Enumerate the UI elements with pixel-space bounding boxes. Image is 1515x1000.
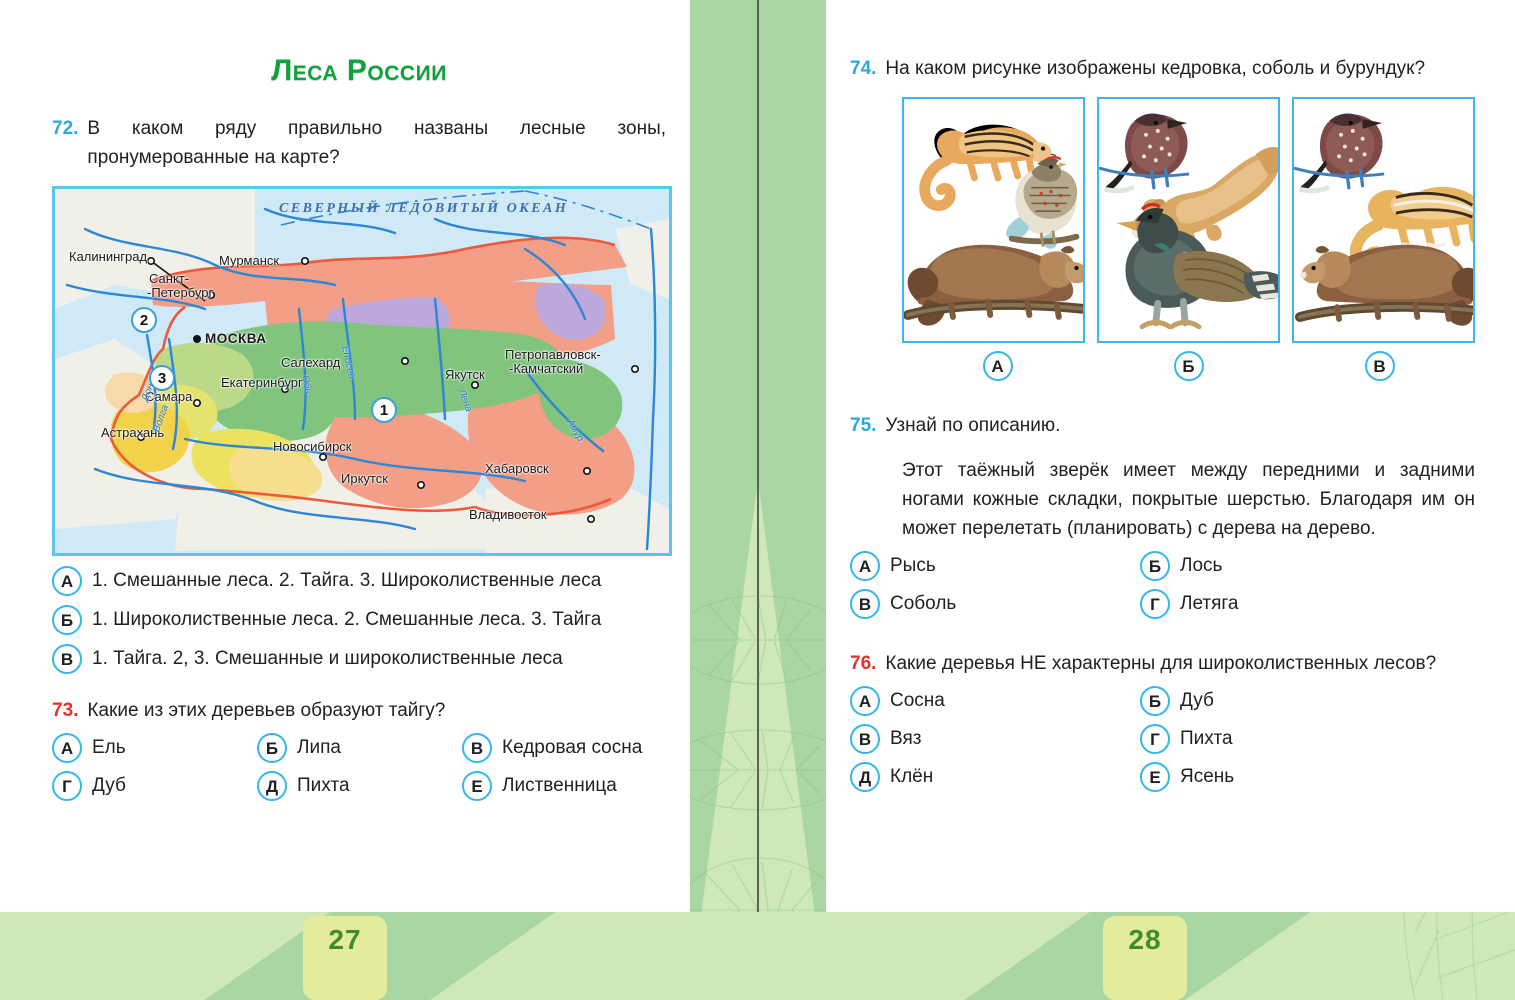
question-76-options: А Сосна Б Дуб В Вяз Г Пихта Д Клён <box>850 686 1475 800</box>
option-bullet-b[interactable]: Б <box>52 605 82 635</box>
option-row[interactable]: Г Пихта <box>1140 724 1233 754</box>
option-bullet-b[interactable]: Б <box>257 733 287 763</box>
option-bullet-a[interactable]: А <box>850 686 880 716</box>
map-city-moscow: МОСКВА <box>205 331 267 346</box>
option-bullet-g[interactable]: Г <box>1140 724 1170 754</box>
panel-a-illustration <box>904 99 1085 341</box>
option-label: Летяга <box>1180 589 1238 619</box>
map-city-khabarovsk: Хабаровск <box>485 461 549 476</box>
option-label: Ясень <box>1180 762 1234 792</box>
page-number-right: 28 <box>1103 916 1187 1000</box>
option-bullet-d[interactable]: Д <box>850 762 880 792</box>
question-74: 74. На каком рисунке изображены кедровка… <box>850 54 1475 83</box>
question-number: 76. <box>850 649 876 678</box>
option-bullet-v[interactable]: В <box>1365 351 1395 381</box>
option-row[interactable]: А Рысь <box>850 551 1140 581</box>
book-spread: Леса России 72. В каком ряду правильно н… <box>0 0 1515 1000</box>
option-bullet-a[interactable]: А <box>850 551 880 581</box>
option-label: Вяз <box>890 724 1140 754</box>
option-row[interactable]: Б 1. Широколиственные леса. 2. Смешанные… <box>52 605 666 635</box>
option-bullet-d[interactable]: Д <box>257 771 287 801</box>
option-bullet-v[interactable]: В <box>52 644 82 674</box>
option-label: Дуб <box>92 771 257 801</box>
option-bullet-v[interactable]: В <box>462 733 492 763</box>
option-bullet-b[interactable]: Б <box>1140 551 1170 581</box>
map-city-ekaterinburg: Екатеринбург <box>221 375 303 390</box>
question-75-options: А Рысь Б Лось В Соболь Г Летяга <box>850 551 1475 627</box>
question-text: Какие деревья НЕ характерны для широколи… <box>885 649 1436 678</box>
question-75-description: Этот таёжный зверёк имеет между передним… <box>902 456 1475 543</box>
footer-wedge <box>430 912 760 1000</box>
option-row[interactable]: Г Летяга <box>1140 589 1238 619</box>
map-city-salekhard: Салехард <box>281 355 340 370</box>
book-spine <box>757 0 759 1000</box>
footer-band <box>0 912 1515 1000</box>
footer-wedge <box>0 912 330 1000</box>
map-city-vladivostok: Владивосток <box>469 507 547 522</box>
answer-panel-v[interactable] <box>1292 97 1475 343</box>
question-text: Какие из этих деревьев образуют тайгу? <box>87 696 445 725</box>
option-row[interactable]: Б Дуб <box>1140 686 1214 716</box>
question-76: 76. Какие деревья НЕ характерны для широ… <box>850 649 1475 678</box>
option-row[interactable]: Д Пихта <box>257 771 462 801</box>
map-zone-number-3: 3 <box>149 365 175 391</box>
option-bullet-b[interactable]: Б <box>1140 686 1170 716</box>
russia-forest-zones-map: СЕВЕРНЫЙ ЛЕДОВИТЫЙ ОКЕАН Калининград Мур… <box>52 186 672 556</box>
option-label: Липа <box>297 733 462 763</box>
question-number: 73. <box>52 696 78 725</box>
map-city-murmansk: Мурманск <box>219 253 279 268</box>
question-text: На каком рисунке изображены кедровка, со… <box>885 54 1425 83</box>
question-number: 75. <box>850 411 876 440</box>
answer-panel-a[interactable] <box>902 97 1085 343</box>
option-label: 1. Тайга. 2, 3. Смешанные и широколистве… <box>92 644 666 674</box>
option-row[interactable]: Б Липа <box>257 733 462 763</box>
option-label: 1. Смешанные леса. 2. Тайга. 3. Широколи… <box>92 566 666 596</box>
question-72-options: А 1. Смешанные леса. 2. Тайга. 3. Широко… <box>52 566 666 674</box>
question-number: 74. <box>850 54 876 83</box>
question-75: 75. Узнай по описанию. <box>850 411 1475 440</box>
option-bullet-g[interactable]: Г <box>52 771 82 801</box>
question-74-panels <box>902 97 1475 343</box>
page-title: Леса России <box>52 54 666 88</box>
answer-panel-b[interactable] <box>1097 97 1280 343</box>
option-label: Ель <box>92 733 257 763</box>
footer-wedge <box>760 912 1090 1000</box>
footer-wedge <box>1185 912 1515 1000</box>
option-label: Кедровая сосна <box>502 733 642 763</box>
option-label: 1. Широколиственные леса. 2. Смешанные л… <box>92 605 666 635</box>
option-label: Пихта <box>1180 724 1233 754</box>
option-bullet-e[interactable]: Е <box>462 771 492 801</box>
option-row[interactable]: Д Клён <box>850 762 1140 792</box>
question-72: 72. В каком ряду правильно названы лесны… <box>52 114 666 172</box>
option-row[interactable]: В Вяз <box>850 724 1140 754</box>
option-bullet-a[interactable]: А <box>983 351 1013 381</box>
map-city-saintpetersburg-l1: Санкт- <box>149 271 189 286</box>
map-city-petropavlovsk-l2: -Камчатский <box>509 361 583 376</box>
option-row[interactable]: Е Лиственница <box>462 771 617 801</box>
option-row[interactable]: В Кедровая сосна <box>462 733 642 763</box>
option-bullet-v[interactable]: В <box>850 724 880 754</box>
option-label: Сосна <box>890 686 1140 716</box>
map-city-novosibirsk: Новосибирск <box>273 439 352 454</box>
option-label: Дуб <box>1180 686 1214 716</box>
panel-label-b[interactable]: Б <box>1093 351 1284 381</box>
ocean-label: СЕВЕРНЫЙ ЛЕДОВИТЫЙ ОКЕАН <box>279 201 568 217</box>
question-number: 72. <box>52 114 78 172</box>
option-row[interactable]: В Соболь <box>850 589 1140 619</box>
option-row[interactable]: Б Лось <box>1140 551 1222 581</box>
panel-label-v[interactable]: В <box>1284 351 1475 381</box>
option-row[interactable]: Е Ясень <box>1140 762 1234 792</box>
option-label: Соболь <box>890 589 1140 619</box>
question-74-panel-labels: А Б В <box>902 351 1475 381</box>
map-city-yakutsk: Якутск <box>445 367 485 382</box>
option-label: Пихта <box>297 771 462 801</box>
map-city-petropavlovsk-l1: Петропавловск- <box>505 347 601 362</box>
option-label: Клён <box>890 762 1140 792</box>
question-text: Узнай по описанию. <box>885 411 1060 440</box>
option-row[interactable]: А Ель <box>52 733 257 763</box>
option-bullet-g[interactable]: Г <box>1140 589 1170 619</box>
right-page: 74. На каком рисунке изображены кедровка… <box>826 0 1515 912</box>
page-number-left: 27 <box>303 916 387 1000</box>
question-73: 73. Какие из этих деревьев образуют тайг… <box>52 696 666 725</box>
option-bullet-b[interactable]: Б <box>1174 351 1204 381</box>
question-73-options: А Ель Б Липа В Кедровая сосна Г Дуб Д <box>52 733 666 809</box>
map-city-saintpetersburg-l2: -Петербург <box>147 285 213 300</box>
option-bullet-v[interactable]: В <box>850 589 880 619</box>
option-label: Рысь <box>890 551 1140 581</box>
option-bullet-a[interactable]: А <box>52 733 82 763</box>
map-zone-number-1: 1 <box>371 397 397 423</box>
question-text: В каком ряду правильно названы лесные зо… <box>87 114 666 172</box>
option-label: Лиственница <box>502 771 617 801</box>
option-row[interactable]: А 1. Смешанные леса. 2. Тайга. 3. Широко… <box>52 566 666 596</box>
option-bullet-a[interactable]: А <box>52 566 82 596</box>
left-page: Леса России 72. В каком ряду правильно н… <box>0 0 690 912</box>
option-row[interactable]: В 1. Тайга. 2, 3. Смешанные и широколист… <box>52 644 666 674</box>
option-label: Лось <box>1180 551 1222 581</box>
option-bullet-e[interactable]: Е <box>1140 762 1170 792</box>
map-city-kaliningrad: Калининград <box>69 249 147 264</box>
map-zone-number-2: 2 <box>131 307 157 333</box>
panel-label-a[interactable]: А <box>902 351 1093 381</box>
panel-b-illustration <box>1099 99 1280 341</box>
option-row[interactable]: Г Дуб <box>52 771 257 801</box>
map-city-irkutsk: Иркутск <box>341 471 388 486</box>
option-row[interactable]: А Сосна <box>850 686 1140 716</box>
panel-v-illustration <box>1294 99 1475 341</box>
